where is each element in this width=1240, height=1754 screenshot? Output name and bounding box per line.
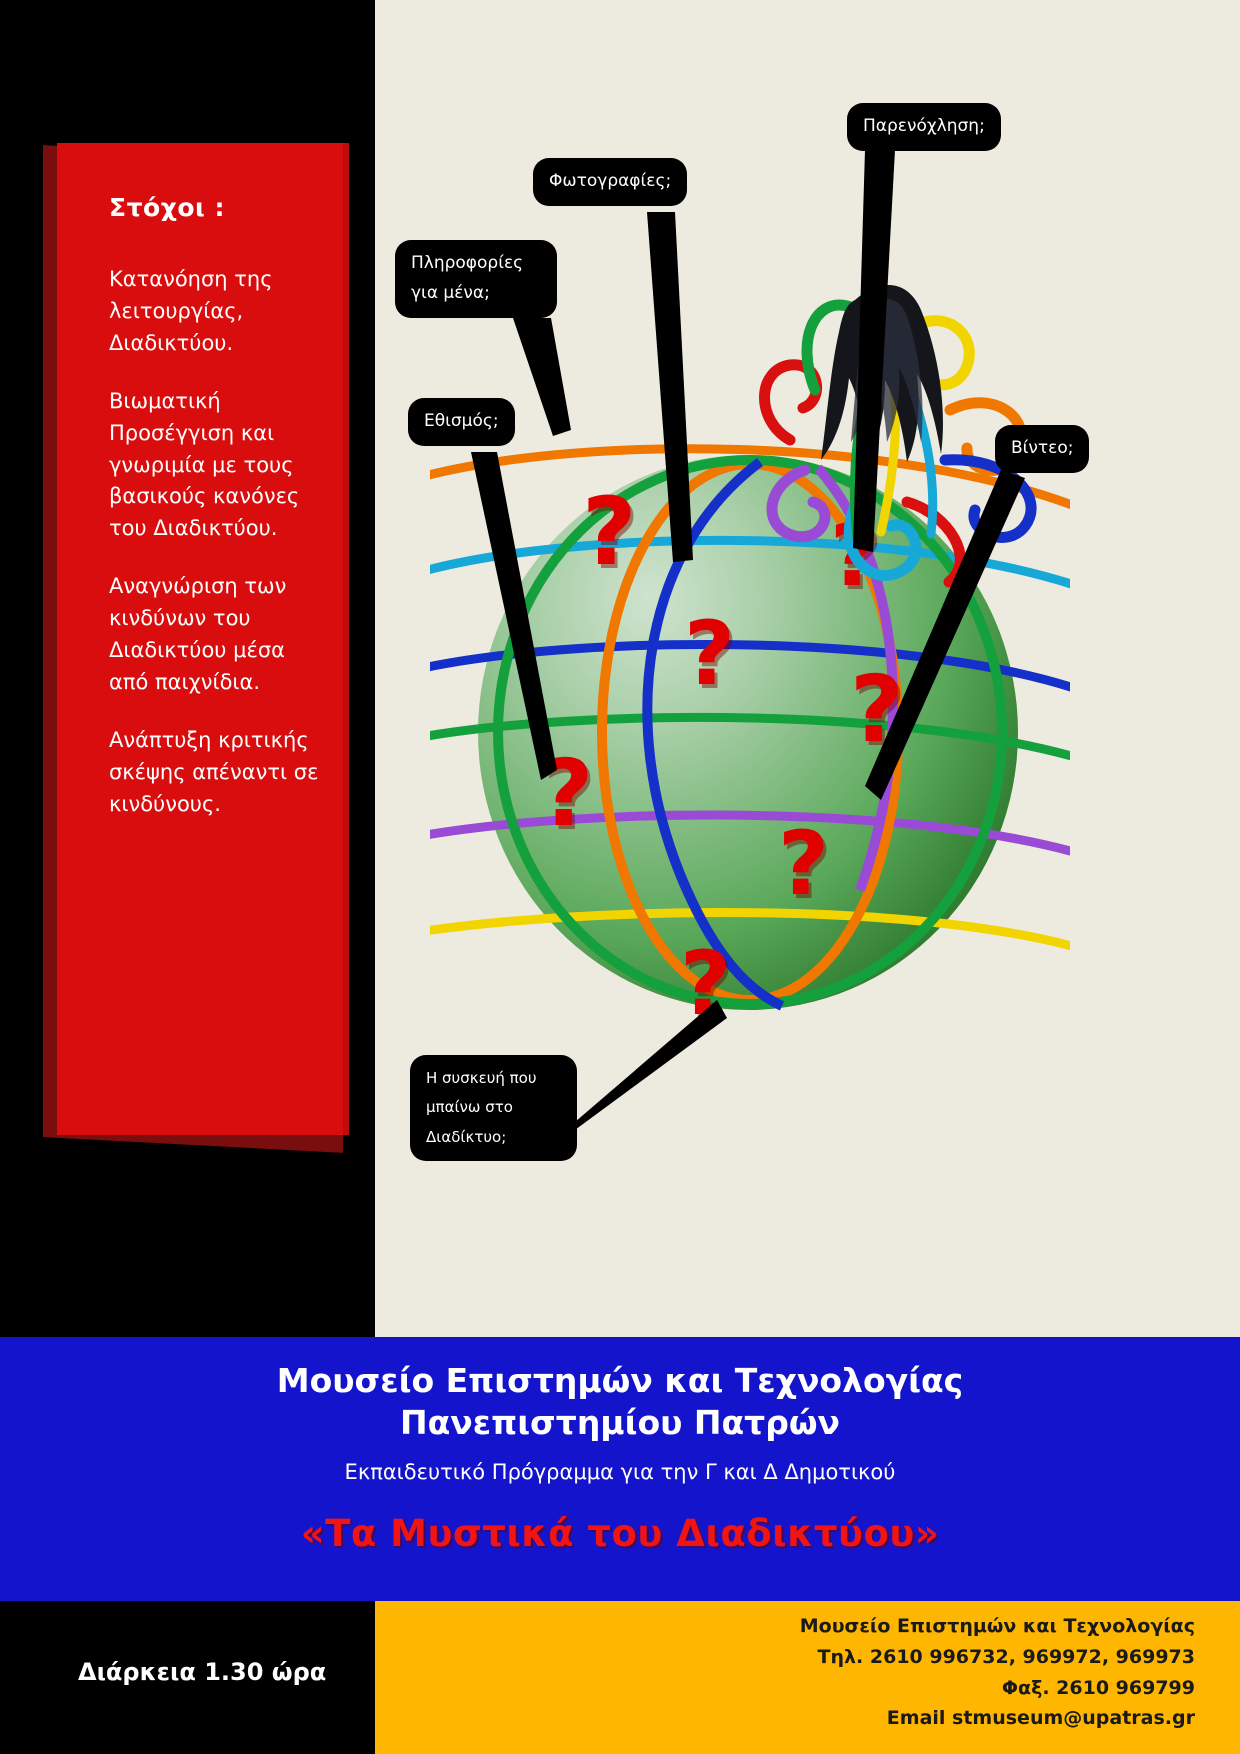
objective-item: Κατανόηση της λειτουργίας, Διαδικτύου. xyxy=(109,264,319,360)
bubble-harassment[interactable]: Παρενόχληση; xyxy=(847,103,1001,151)
bubble-addiction[interactable]: Εθισμός; xyxy=(408,398,515,446)
contact-line: Τηλ. 2610 996732, 969972, 969973 xyxy=(375,1642,1195,1673)
banner: Μουσείο Επιστημών και Τεχνολογίας Πανεπι… xyxy=(0,1337,1240,1601)
objectives-title: Στόχοι : xyxy=(109,193,319,222)
program-title: «Τα Μυστικά του Διαδικτύου» xyxy=(0,1512,1240,1555)
contact-line: Μουσείο Επιστημών και Τεχνολογίας xyxy=(375,1611,1195,1642)
bubble-photos[interactable]: Φωτογραφίες; xyxy=(533,158,687,206)
contact-line: Φαξ. 2610 969799 xyxy=(375,1673,1195,1704)
banner-title-line1: Μουσείο Επιστημών και Τεχνολογίας xyxy=(0,1361,1240,1401)
footer-contact-box: Μουσείο Επιστημών και Τεχνολογίας Τηλ. 2… xyxy=(375,1601,1240,1754)
bubble-video[interactable]: Βίντεο; xyxy=(995,425,1089,473)
illustration-area: ? ? ? ? ? ? ? xyxy=(375,0,1240,1337)
banner-subtitle: Εκπαιδευτικό Πρόγραμμα για την Γ και Δ Δ… xyxy=(0,1460,1240,1484)
contact-line[interactable]: Email stmuseum@upatras.gr xyxy=(375,1703,1195,1734)
objective-item: Αναγνώριση των κινδύνων του Διαδικτύου μ… xyxy=(109,571,319,699)
poster-root: Στόχοι : Κατανόηση της λειτουργίας, Διαδ… xyxy=(0,0,1240,1754)
bubble-device[interactable]: Η συσκευή που μπαίνω στο Διαδίκτυο; xyxy=(410,1055,577,1161)
objective-item: Βιωματική Προσέγγιση και γνωριμία με του… xyxy=(109,386,319,546)
duration-label: Διάρκεια 1.30 ώρα xyxy=(78,1658,326,1686)
objective-item: Ανάπτυξη κριτικής σκέψης απέναντι σε κιν… xyxy=(109,725,319,821)
banner-title-line2: Πανεπιστημίου Πατρών xyxy=(0,1403,1240,1443)
bubble-information[interactable]: Πληροφορίες για μένα; xyxy=(395,240,557,318)
objectives-panel: Στόχοι : Κατανόηση της λειτουργίας, Διαδ… xyxy=(57,143,349,1135)
footer-duration-box: Διάρκεια 1.30 ώρα xyxy=(0,1601,375,1754)
